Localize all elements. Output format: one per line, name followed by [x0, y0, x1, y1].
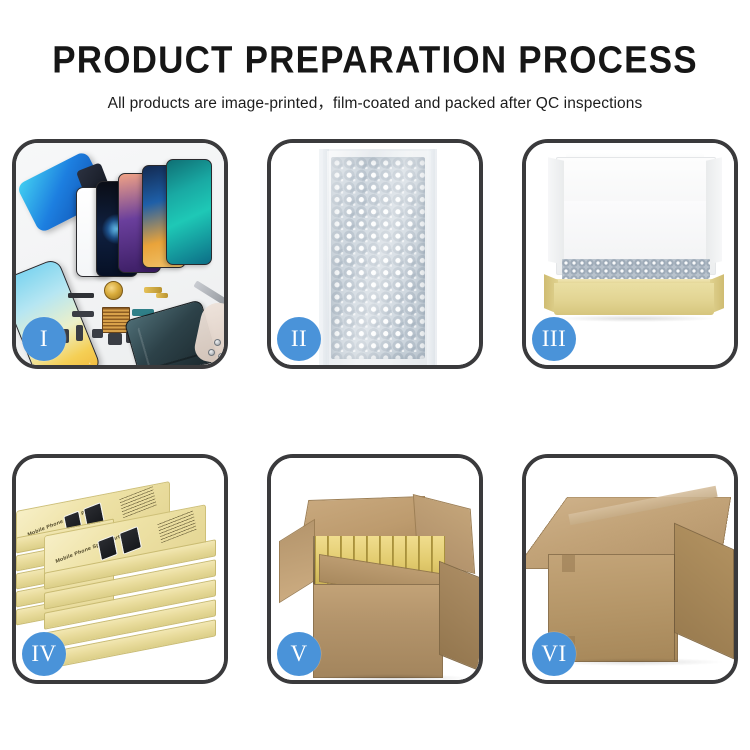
screw-3-icon	[218, 353, 224, 360]
step-badge-4: IV	[22, 632, 66, 676]
box-shadow	[556, 315, 714, 322]
process-step-panel-1: I	[12, 139, 228, 369]
step-badge-3: III	[532, 317, 576, 361]
carton-body-side	[439, 561, 479, 674]
sealed-carton-shadow	[552, 658, 722, 666]
sealed-carton-edge	[674, 554, 675, 660]
process-step-panel-3: III	[522, 139, 738, 369]
box-inner-liner	[564, 201, 706, 261]
process-steps-grid: I II III	[12, 139, 738, 684]
step-badge-2: II	[277, 317, 321, 361]
camera-part-icon	[92, 329, 103, 338]
carton-shadow	[317, 674, 467, 680]
speaker-part-icon	[68, 293, 94, 298]
page-title: PRODUCT PREPARATION PROCESS	[0, 0, 750, 82]
box-lid-phone-image-4	[119, 526, 142, 555]
coil-part-icon	[104, 281, 123, 300]
step-badge-5: V	[277, 632, 321, 676]
phone-teal-icon	[166, 159, 212, 265]
packing-tape-upper	[562, 554, 575, 572]
box-front-panel	[554, 283, 714, 315]
sleeve-seal-left	[319, 149, 329, 365]
button-part-icon	[76, 325, 83, 341]
screw-icon	[214, 339, 221, 346]
screw-2-icon	[208, 349, 215, 356]
speaker-mesh-icon	[108, 333, 122, 345]
flex-cable-gold-2-icon	[156, 293, 168, 298]
process-step-panel-6: VI	[522, 454, 738, 684]
box-lid-spec-lines-2	[157, 510, 196, 544]
process-step-panel-4: Mobile Phone Spare Parts Mobile Phone Sp…	[12, 454, 228, 684]
process-step-panel-2: II	[267, 139, 483, 369]
box-lid-flap-right	[706, 157, 722, 264]
carton-body-front	[313, 584, 443, 678]
page-header: PRODUCT PREPARATION PROCESS All products…	[0, 0, 750, 113]
bubble-wrap-icon	[331, 157, 425, 359]
sleeve-seal-right	[427, 149, 437, 365]
step-badge-1: I	[22, 317, 66, 361]
step-badge-6: VI	[532, 632, 576, 676]
box-lid-phone-image-3	[97, 535, 118, 561]
flex-cable-2-icon	[72, 311, 94, 317]
phone-fan-group	[68, 157, 224, 277]
process-step-panel-5: V	[267, 454, 483, 684]
box-lid-flap-left	[548, 157, 564, 264]
box-lid-spec-lines-1	[119, 486, 156, 518]
